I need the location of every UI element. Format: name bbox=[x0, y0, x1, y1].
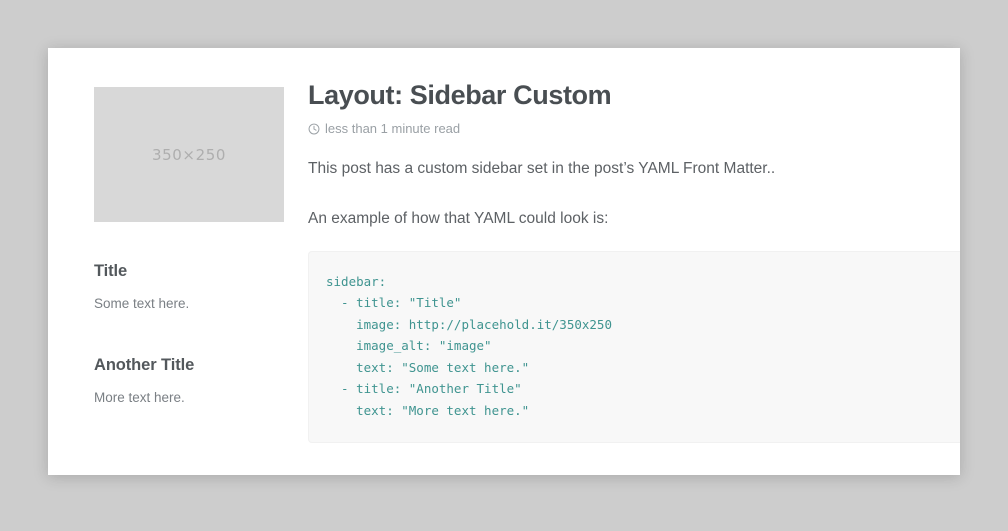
sidebar-block-heading: Another Title bbox=[94, 356, 284, 375]
yaml-code-snippet: sidebar: - title: "Title" image: http://… bbox=[326, 271, 960, 422]
sidebar-block: Another Title More text here. bbox=[94, 356, 284, 408]
page-background: 350×250 Title Some text here. Another Ti… bbox=[0, 0, 1008, 531]
card-layout: 350×250 Title Some text here. Another Ti… bbox=[48, 48, 960, 475]
sidebar-block-heading: Title bbox=[94, 262, 284, 281]
post-paragraph: This post has a custom sidebar set in th… bbox=[308, 157, 960, 180]
post-main-content: Layout: Sidebar Custom less than 1 minut… bbox=[284, 48, 960, 475]
sidebar-block-text: More text here. bbox=[94, 389, 284, 408]
content-card: 350×250 Title Some text here. Another Ti… bbox=[48, 48, 960, 475]
sidebar-block: Title Some text here. bbox=[94, 262, 284, 314]
post-paragraph: An example of how that YAML could look i… bbox=[308, 207, 960, 230]
clock-icon bbox=[308, 123, 320, 135]
sidebar-placeholder-image: 350×250 bbox=[94, 87, 284, 222]
sidebar-block-text: Some text here. bbox=[94, 295, 284, 314]
post-sidebar: 350×250 Title Some text here. Another Ti… bbox=[48, 48, 284, 475]
read-time-label: less than 1 minute read bbox=[325, 122, 460, 135]
page-title: Layout: Sidebar Custom bbox=[308, 80, 960, 111]
placeholder-dimensions-label: 350×250 bbox=[152, 146, 226, 164]
code-block: sidebar: - title: "Title" image: http://… bbox=[308, 251, 960, 444]
post-meta: less than 1 minute read bbox=[308, 122, 960, 135]
